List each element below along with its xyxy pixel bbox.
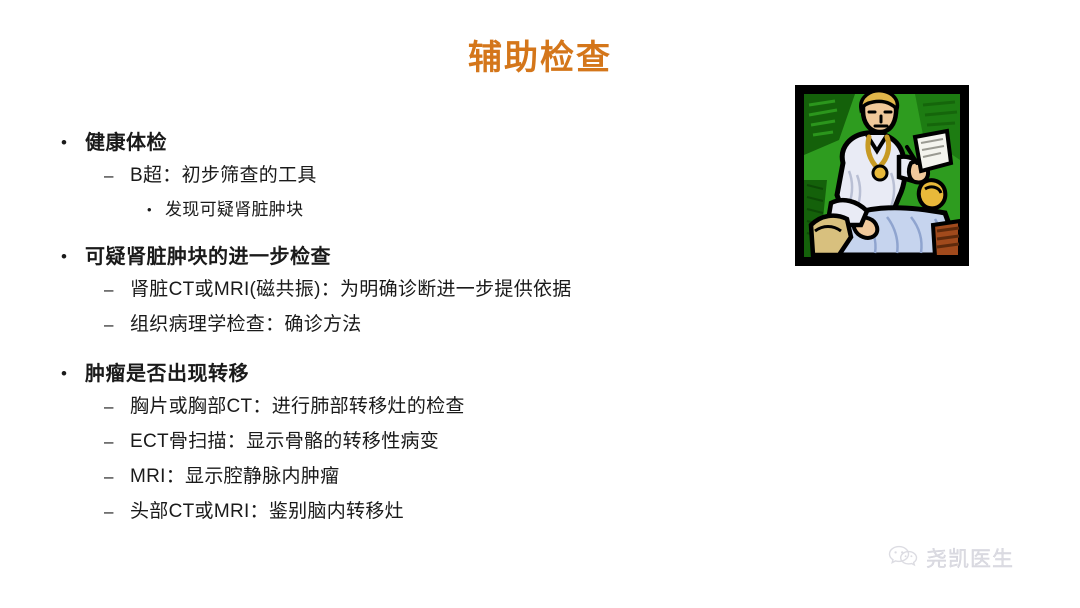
bullet-dash-icon: –: [104, 498, 130, 526]
bullet-dash-icon: –: [104, 162, 130, 190]
group-spacer: [55, 229, 755, 242]
outline-level1-item: • 健康体检: [55, 128, 755, 158]
outline-group: • 健康体检 – B超：初步筛查的工具 • 发现可疑肾脏肿块: [55, 128, 755, 223]
outline-level2-label: 组织病理学检查：确诊方法: [130, 311, 362, 339]
bullet-dash-icon: –: [104, 463, 130, 491]
outline-level2-item: – MRI：显示腔静脉内肿瘤: [104, 463, 755, 491]
bullet-dash-icon: –: [104, 311, 130, 339]
bullet-dot-icon: •: [147, 197, 165, 223]
bullet-dot-icon: •: [55, 359, 85, 389]
outline-level2-label: MRI：显示腔静脉内肿瘤: [130, 463, 339, 491]
outline-level1-item: • 肿瘤是否出现转移: [55, 359, 755, 389]
outline-level1-label: 可疑肾脏肿块的进一步检查: [85, 242, 331, 272]
group-spacer: [55, 346, 755, 359]
bullet-dot-icon: •: [55, 128, 85, 158]
outline-group: • 肿瘤是否出现转移 – 胸片或胸部CT：进行肺部转移灶的检查 – ECT骨扫描…: [55, 359, 755, 526]
doctor-examining-patient-illustration: [795, 85, 969, 266]
outline-level2-item: – ECT骨扫描：显示骨骼的转移性病变: [104, 428, 755, 456]
outline-level2-item: – B超：初步筛查的工具: [104, 162, 755, 190]
bullet-dash-icon: –: [104, 276, 130, 304]
bullet-dash-icon: –: [104, 393, 130, 421]
outline-level2-item: – 头部CT或MRI：鉴别脑内转移灶: [104, 498, 755, 526]
outline-level2-label: 肾脏CT或MRI(磁共振)：为明确诊断进一步提供依据: [130, 276, 572, 304]
outline-level2-label: ECT骨扫描：显示骨骼的转移性病变: [130, 428, 439, 456]
outline-level2-item: – 肾脏CT或MRI(磁共振)：为明确诊断进一步提供依据: [104, 276, 755, 304]
slide-body-outline: • 健康体检 – B超：初步筛查的工具 • 发现可疑肾脏肿块 • 可疑肾脏肿块的…: [55, 128, 755, 533]
watermark: 尧凯医生: [888, 543, 1014, 573]
outline-level2-label: B超：初步筛查的工具: [130, 162, 317, 190]
outline-level2-item: – 组织病理学检查：确诊方法: [104, 311, 755, 339]
outline-level1-label: 肿瘤是否出现转移: [85, 359, 249, 389]
outline-level2-item: – 胸片或胸部CT：进行肺部转移灶的检查: [104, 393, 755, 421]
outline-level2-label: 头部CT或MRI：鉴别脑内转移灶: [130, 498, 404, 526]
outline-group: • 可疑肾脏肿块的进一步检查 – 肾脏CT或MRI(磁共振)：为明确诊断进一步提…: [55, 242, 755, 339]
presentation-slide: 辅助检查 • 健康体检 – B超：初步筛查的工具 • 发现可疑肾脏肿块 • 可疑…: [0, 0, 1080, 608]
outline-level2-label: 胸片或胸部CT：进行肺部转移灶的检查: [130, 393, 465, 421]
watermark-label: 尧凯医生: [926, 543, 1014, 573]
wechat-icon: [888, 544, 918, 573]
outline-level3-label: 发现可疑肾脏肿块: [165, 197, 303, 223]
outline-level3-item: • 发现可疑肾脏肿块: [147, 197, 755, 223]
page-title: 辅助检查: [0, 38, 1080, 79]
outline-level1-item: • 可疑肾脏肿块的进一步检查: [55, 242, 755, 272]
bullet-dash-icon: –: [104, 428, 130, 456]
outline-level1-label: 健康体检: [85, 128, 167, 158]
bullet-dot-icon: •: [55, 242, 85, 272]
